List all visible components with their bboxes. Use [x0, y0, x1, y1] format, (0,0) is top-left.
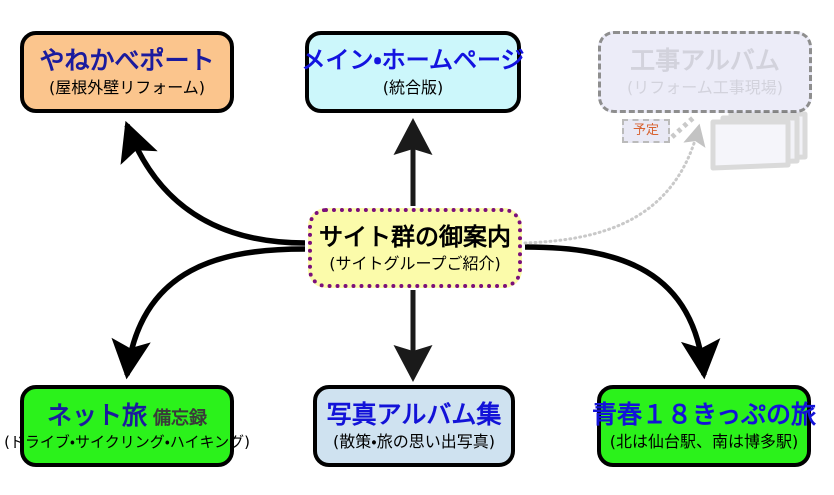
node-net-tabi-titlerow: ネット旅 備忘録	[47, 403, 207, 428]
node-net-tabi-title-suffix: 備忘録	[153, 410, 207, 428]
node-seishun18-trip[interactable]: 青春１８きっぷの旅 (北は仙台駅、南は博多駅)	[597, 385, 811, 467]
badge-leader-line	[672, 118, 693, 137]
node-photo-album-title: 写真アルバム集	[327, 402, 502, 427]
edge-center-to-yanekabe	[127, 125, 305, 243]
node-main-homepage-subtitle: (統合版)	[383, 80, 444, 96]
node-yanekabe-subtitle: (屋根外壁リフォーム)	[49, 80, 205, 96]
node-construction-album-subtitle: (リフォーム工事現場)	[627, 80, 783, 96]
node-yanekabe[interactable]: やねかべポート (屋根外壁リフォーム)	[20, 31, 234, 113]
node-main-homepage-title: メイン・ホームページ	[302, 48, 525, 72]
node-net-tabi-subtitle: (ドライブ・サイクリング・ハイキング)	[4, 435, 250, 450]
node-construction-album[interactable]: 工事アルバム (リフォーム工事現場)	[598, 31, 812, 113]
node-construction-album-title: 工事アルバム	[630, 48, 780, 73]
node-site-group-guide[interactable]: サイト群の御案内 (サイトグループご紹介)	[308, 208, 522, 288]
node-seishun18-trip-subtitle: (北は仙台駅、南は博多駅)	[610, 434, 799, 450]
node-site-group-guide-subtitle: (サイトグループご紹介)	[329, 256, 501, 272]
edge-center-to-album	[525, 126, 699, 243]
node-net-tabi[interactable]: ネット旅 備忘録 (ドライブ・サイクリング・ハイキング)	[20, 385, 234, 467]
diagram-canvas: やねかべポート (屋根外壁リフォーム) メイン・ホームページ (統合版) 工事ア…	[0, 0, 834, 495]
node-photo-album[interactable]: 写真アルバム集 (散策・旅の思い出写真)	[313, 385, 515, 467]
status-badge-planned: 予定	[622, 119, 670, 143]
node-main-homepage[interactable]: メイン・ホームページ (統合版)	[305, 31, 521, 113]
photo-stack-icon	[713, 114, 805, 168]
node-site-group-guide-title: サイト群の御案内	[319, 225, 511, 249]
edge-center-to-nettabi	[127, 249, 305, 375]
node-yanekabe-title: やねかべポート	[39, 48, 214, 73]
node-photo-album-subtitle: (散策・旅の思い出写真)	[333, 434, 495, 450]
edge-center-to-seishun	[525, 247, 704, 375]
node-net-tabi-title: ネット旅	[47, 403, 147, 428]
node-seishun18-trip-title: 青春１８きっぷの旅	[592, 402, 816, 427]
